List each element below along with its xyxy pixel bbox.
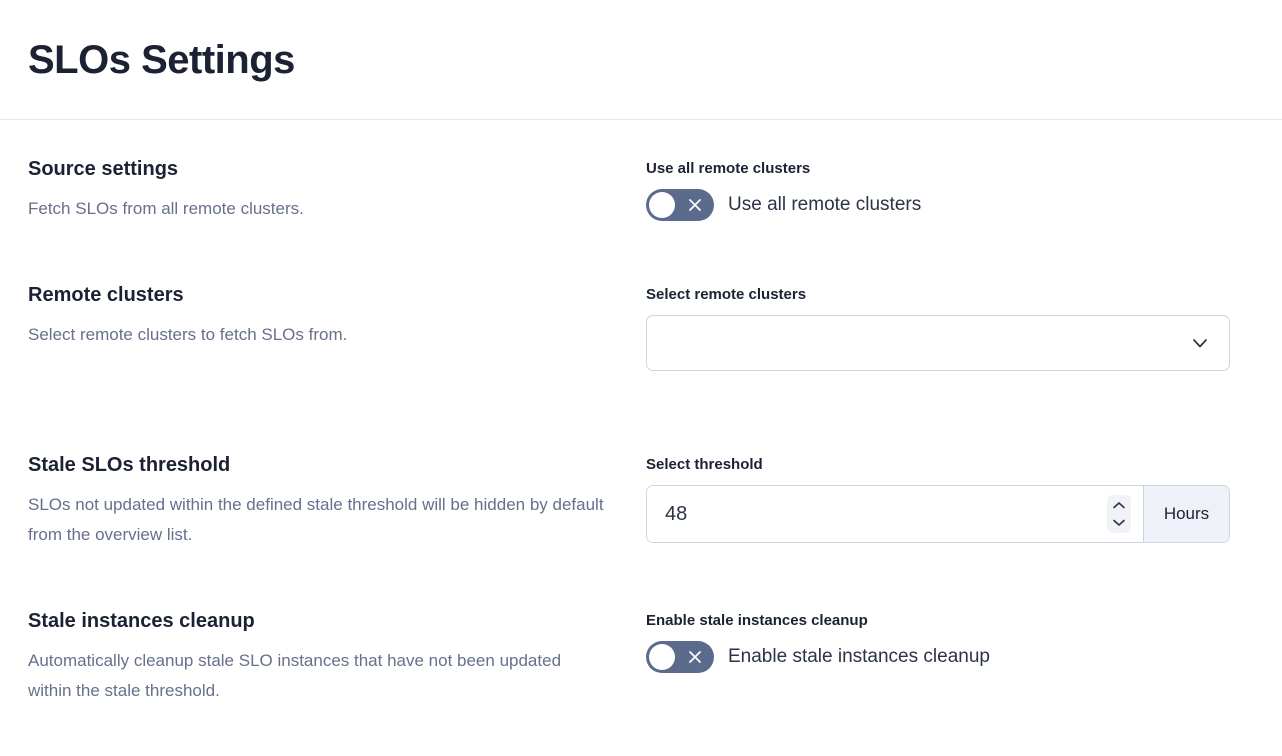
page-title: SLOs Settings (28, 38, 295, 82)
section-remote-clusters-control-column: Select remote clusters (646, 282, 1254, 371)
enable-stale-instances-cleanup-toggle[interactable] (646, 641, 714, 673)
section-source-settings: Source settings Fetch SLOs from all remo… (28, 156, 1254, 282)
section-stale-slos-threshold-heading: Stale SLOs threshold (28, 452, 622, 478)
threshold-unit-addon: Hours (1143, 486, 1229, 542)
settings-body: Source settings Fetch SLOs from all remo… (0, 120, 1282, 728)
chevron-down-icon[interactable] (1109, 515, 1129, 530)
section-source-settings-control-column: Use all remote clusters Use all remote c… (646, 156, 1254, 221)
enable-stale-instances-cleanup-toggle-row: Enable stale instances cleanup (646, 641, 1254, 673)
section-stale-instances-cleanup-description: Automatically cleanup stale SLO instance… (28, 646, 608, 706)
section-stale-instances-cleanup-description-column: Stale instances cleanup Automatically cl… (28, 608, 646, 706)
use-all-remote-clusters-label: Use all remote clusters (646, 158, 1254, 179)
section-stale-slos-threshold-control-column: Select threshold (646, 452, 1254, 543)
section-stale-instances-cleanup-heading: Stale instances cleanup (28, 608, 622, 634)
select-remote-clusters-label: Select remote clusters (646, 284, 1254, 305)
section-source-settings-description-column: Source settings Fetch SLOs from all remo… (28, 156, 646, 224)
section-stale-slos-threshold: Stale SLOs threshold SLOs not updated wi… (28, 452, 1254, 608)
section-stale-instances-cleanup-control-column: Enable stale instances cleanup Enable st… (646, 608, 1254, 673)
threshold-stepper[interactable] (1107, 495, 1131, 533)
slos-settings-page: SLOs Settings Source settings Fetch SLOs… (0, 0, 1282, 756)
toggle-knob (649, 644, 675, 670)
select-threshold-label: Select threshold (646, 454, 1254, 475)
threshold-number-field[interactable] (647, 486, 1143, 542)
toggle-knob (649, 192, 675, 218)
close-x-icon (676, 189, 714, 221)
page-header: SLOs Settings (0, 0, 1282, 120)
section-source-settings-description: Fetch SLOs from all remote clusters. (28, 194, 608, 224)
section-remote-clusters-heading: Remote clusters (28, 282, 622, 308)
section-remote-clusters-description-column: Remote clusters Select remote clusters t… (28, 282, 646, 350)
enable-stale-instances-cleanup-toggle-text[interactable]: Enable stale instances cleanup (728, 645, 990, 670)
section-remote-clusters-description: Select remote clusters to fetch SLOs fro… (28, 320, 608, 350)
close-x-icon (676, 641, 714, 673)
section-remote-clusters: Remote clusters Select remote clusters t… (28, 282, 1254, 452)
use-all-remote-clusters-toggle-row: Use all remote clusters (646, 189, 1254, 221)
use-all-remote-clusters-toggle-text[interactable]: Use all remote clusters (728, 193, 921, 218)
section-source-settings-heading: Source settings (28, 156, 622, 182)
section-stale-slos-threshold-description-column: Stale SLOs threshold SLOs not updated wi… (28, 452, 646, 550)
section-stale-slos-threshold-description: SLOs not updated within the defined stal… (28, 490, 608, 550)
enable-stale-instances-cleanup-label: Enable stale instances cleanup (646, 610, 1254, 631)
threshold-number-input[interactable] (665, 503, 1025, 526)
section-stale-instances-cleanup: Stale instances cleanup Automatically cl… (28, 608, 1254, 728)
chevron-down-icon[interactable] (1189, 332, 1211, 354)
select-remote-clusters-input[interactable] (646, 315, 1230, 371)
use-all-remote-clusters-toggle[interactable] (646, 189, 714, 221)
threshold-input-group: Hours (646, 485, 1230, 543)
chevron-up-icon[interactable] (1109, 498, 1129, 513)
